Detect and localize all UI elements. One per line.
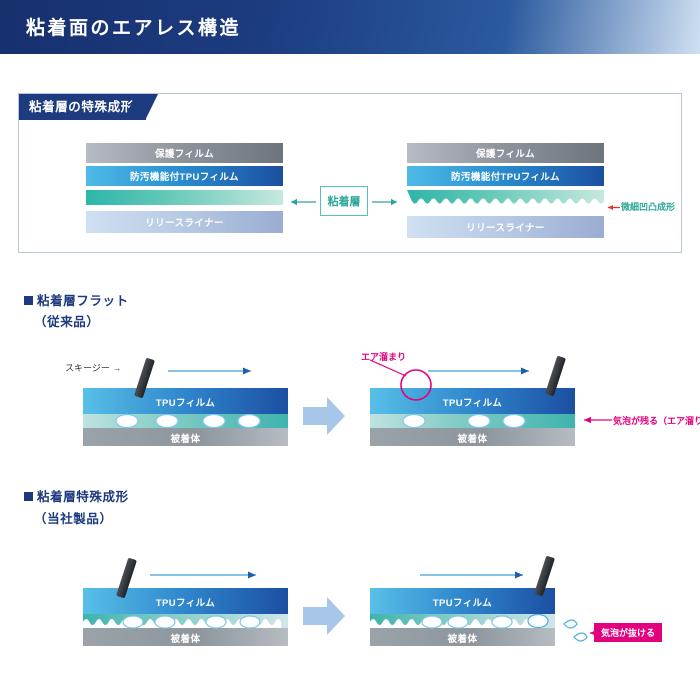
layer-adhesive-flat — [86, 190, 283, 205]
micro-texture-label: 微細凹凸成形 — [621, 200, 675, 213]
air-pocket-label: エア溜まり — [361, 350, 406, 363]
layer-tpu-film: 防汚機能付TPUフィルム — [86, 166, 283, 186]
section1-transition-arrow-icon — [303, 396, 345, 436]
micro-texture-arrow-icon — [604, 203, 620, 212]
section2-right-film-label: TPUフィルム — [370, 595, 555, 609]
layer-tpu-film: 防汚機能付TPUフィルム — [407, 166, 604, 186]
section1-left-direction-arrow-icon — [168, 366, 260, 376]
adhesive-layer-callout: 粘着層 — [320, 186, 368, 216]
section1-heading-text: 粘着層フラット — [37, 294, 129, 308]
section2-subheading: （当社製品） — [34, 508, 113, 527]
bullet-square-icon — [24, 492, 33, 501]
left-layer-stack: 保護フィルム 防汚機能付TPUフィルム リリースライナー — [86, 143, 283, 233]
residual-bubble-label: 気泡が残る（エア溜り） — [613, 414, 700, 427]
section2-left-direction-arrow-icon — [150, 570, 265, 580]
squeegee-label: スキージー → — [65, 361, 121, 374]
layer-release-liner: リリースライナー — [407, 216, 604, 238]
section2-heading-text: 粘着層特殊成形 — [37, 490, 129, 504]
section2-left-diagram: TPUフィルム 被着体 — [83, 588, 288, 646]
section1-left-film-label: TPUフィルム — [83, 395, 288, 409]
section2-right-direction-arrow-icon — [420, 570, 532, 580]
layer-release-liner: リリースライナー — [86, 211, 283, 233]
section1-left-diagram: TPUフィルム 被着体 — [83, 388, 288, 446]
section2-left-film-label: TPUフィルム — [83, 595, 288, 609]
escaping-bubble-label: 気泡が抜ける — [594, 623, 662, 642]
section2-heading: 粘着層特殊成形 — [24, 486, 129, 505]
section1-subheading: （従来品） — [34, 311, 100, 330]
section2-right-diagram: TPUフィルム 被着体 — [370, 588, 555, 646]
section1-heading: 粘着層フラット — [24, 290, 129, 309]
arrow-right-icon — [372, 196, 402, 208]
layer-protective-film: 保護フィルム — [86, 143, 283, 163]
page-title: 粘着面のエアレス構造 — [26, 13, 241, 40]
section1-right-direction-arrow-icon — [428, 366, 538, 376]
residual-bubble-arrow-icon — [576, 415, 612, 425]
arrow-left-icon — [286, 196, 316, 208]
section2-transition-arrow-icon — [303, 596, 345, 636]
section2-left-substrate-label: 被着体 — [83, 631, 288, 645]
page-header: 粘着面のエアレス構造 — [0, 0, 700, 54]
bullet-square-icon — [24, 296, 33, 305]
section1-right-substrate-label: 被着体 — [370, 431, 575, 445]
layer-protective-film: 保護フィルム — [407, 143, 604, 163]
section2-right-substrate-label: 被着体 — [370, 631, 555, 645]
page-root: 粘着面のエアレス構造 粘着層の特殊成形 保護フィルム 防汚機能付TPUフィルム … — [0, 0, 700, 700]
section1-left-substrate-label: 被着体 — [83, 431, 288, 445]
right-layer-stack: 保護フィルム 防汚機能付TPUフィルム リリースライナー — [407, 143, 604, 238]
layer-adhesive-textured — [407, 190, 604, 212]
